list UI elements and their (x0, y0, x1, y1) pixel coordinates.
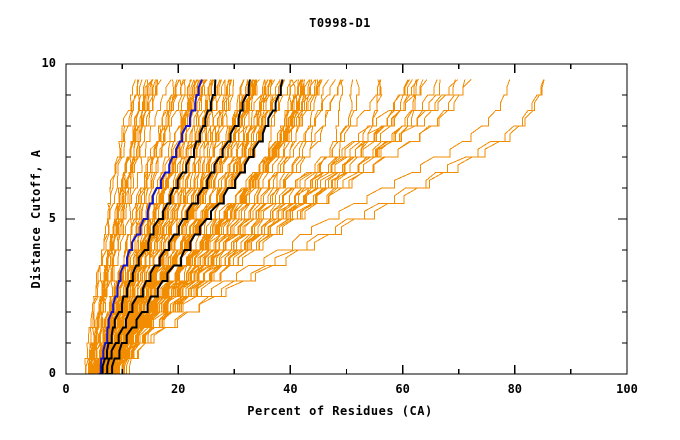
x-axis-title: Percent of Residues (CA) (0, 404, 680, 418)
x-tick-label: 20 (138, 382, 218, 396)
chart-root: T0998-D1 Percent of Residues (CA) Distan… (0, 0, 680, 440)
plot-canvas (0, 0, 680, 440)
y-tick-label: 10 (4, 56, 56, 70)
data-curve (114, 80, 509, 375)
x-tick-label: 80 (475, 382, 555, 396)
y-tick-label: 0 (4, 366, 56, 380)
x-tick-label: 40 (250, 382, 330, 396)
y-tick-label: 5 (4, 211, 56, 225)
x-tick-label: 100 (587, 382, 667, 396)
x-tick-label: 60 (363, 382, 443, 396)
x-tick-label: 0 (26, 382, 106, 396)
curve-group (83, 80, 544, 375)
